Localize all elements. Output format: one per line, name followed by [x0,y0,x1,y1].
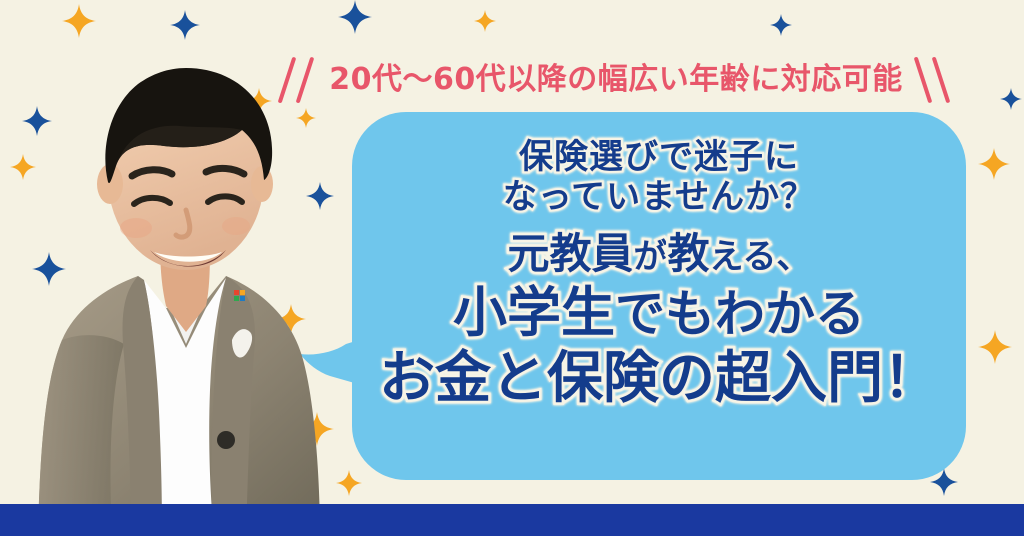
message-line-1-part-c: 教 [668,229,710,278]
poster-canvas: 20代〜60代以降の幅広い年齢に対応可能 保険選びで迷子に なっていませんか？ … [0,0,1024,536]
bottom-color-band [0,504,1024,536]
star-orange-2-icon [474,10,496,32]
star-orange-8-icon [978,148,1010,180]
message-line-3: お金と保険の超入門！ [379,348,939,411]
presenter-portrait [20,44,350,536]
message-line-2-part-a: 小学生 [453,281,615,344]
message-line-1-part-b: が [634,237,668,277]
headline-text: 20代〜60代以降の幅広い年齢に対応可能 [319,65,913,95]
star-navy-8-icon [1000,88,1022,110]
star-navy-1-icon [170,10,200,40]
message-line-1: 元教員が教える、 [507,230,810,277]
message-line-1-part-d: える、 [710,237,811,277]
speech-bubble-content: 保険選びで迷子に なっていませんか？ 元教員が教える、 小学生でもわかる お金と… [352,112,966,480]
double-slash-right-icon [913,54,955,106]
double-slash-left-icon [277,54,319,106]
question-line-1: 保険選びで迷子に [519,138,799,176]
star-orange-9-icon [978,330,1012,364]
message-line-2: 小学生でもわかる [453,283,865,343]
star-orange-1-icon [62,4,96,38]
headline: 20代〜60代以降の幅広い年齢に対応可能 [246,52,986,108]
question-line-2: なっていませんか？ [503,178,815,216]
message-line-1-part-a: 元教員 [507,229,633,278]
star-navy-3-icon [770,14,792,36]
message-line-2-part-b: でもわかる [615,285,865,343]
star-navy-2-icon [338,0,372,34]
